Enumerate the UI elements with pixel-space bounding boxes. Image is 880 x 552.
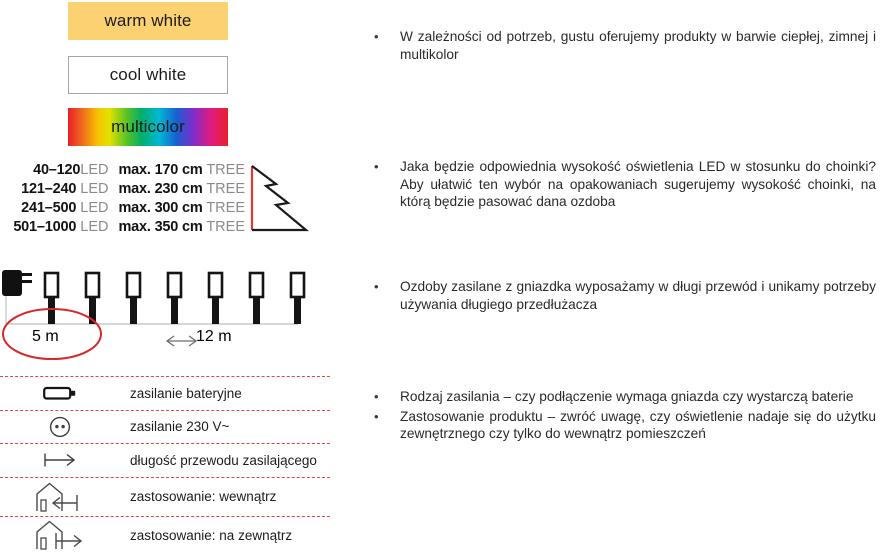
table-row: 501–1000 LED max. 350 cm TREE xyxy=(0,217,245,236)
tree-height-unit: TREE xyxy=(206,162,245,178)
led-bulb xyxy=(291,273,304,324)
led-count-cell: 40–120LED xyxy=(0,160,108,179)
symbol-legend: zasilanie bateryjne zasilanie 230 V~ xyxy=(0,376,330,552)
led-count-value: 241–500 xyxy=(21,200,76,216)
battery-icon xyxy=(0,384,120,402)
tree-height-unit: TREE xyxy=(206,219,245,235)
power-socket-icon xyxy=(0,414,120,440)
bullet-text: Jaka będzie odpowiednia wysokość oświetl… xyxy=(400,158,876,211)
multicolor-label: multicolor xyxy=(111,117,185,137)
list-item: • Ozdoby zasilane z gniazdka wyposażamy … xyxy=(368,278,876,313)
led-count-unit: LED xyxy=(80,200,108,216)
light-string-diagram xyxy=(0,262,320,367)
bullet-marker: • xyxy=(368,158,400,211)
multicolor-swatch: multicolor xyxy=(68,108,228,146)
power-plug-icon xyxy=(2,270,32,296)
lead-length-label: 5 m xyxy=(32,328,59,346)
bullet-block-colour: • W zależności od potrzeb, gustu oferuje… xyxy=(368,28,876,65)
bullet-marker: • xyxy=(368,408,400,443)
tree-height-unit: TREE xyxy=(206,181,245,197)
legend-label: długość przewodu zasilającego xyxy=(120,453,317,468)
led-count-value: 40–120 xyxy=(33,162,80,178)
tree-height-unit: TREE xyxy=(206,200,245,216)
table-row: 241–500 LED max. 300 cm TREE xyxy=(0,198,245,217)
led-height-table: 40–120LED max. 170 cm TREE 121–240 LED m… xyxy=(0,160,245,236)
legend-row-cable-length: długość przewodu zasilającego xyxy=(0,443,330,477)
cool-white-label: cool white xyxy=(110,65,187,85)
led-count-cell: 121–240 LED xyxy=(0,179,108,198)
bullet-text: Ozdoby zasilane z gniazdka wyposażamy w … xyxy=(400,278,876,313)
list-item: • W zależności od potrzeb, gustu oferuje… xyxy=(368,28,876,63)
legend-label: zasilanie 230 V~ xyxy=(120,419,229,434)
led-bulb xyxy=(209,273,222,324)
tree-height-value: max. 350 cm xyxy=(118,219,202,235)
bullet-block-height: • Jaka będzie odpowiednia wysokość oświe… xyxy=(368,158,876,213)
warm-white-swatch: warm white xyxy=(68,2,228,40)
led-count-unit: LED xyxy=(80,162,108,178)
legend-row-socket: zasilanie 230 V~ xyxy=(0,410,330,444)
led-bulb xyxy=(127,273,140,324)
tree-height-cell: max. 300 cm TREE xyxy=(108,198,245,217)
warm-white-label: warm white xyxy=(105,11,192,31)
legend-label: zastosowanie: wewnątrz xyxy=(120,489,276,504)
tree-height-cell: max. 170 cm TREE xyxy=(108,160,245,179)
led-count-cell: 501–1000 LED xyxy=(0,217,108,236)
led-count-value: 121–240 xyxy=(21,181,76,197)
led-bulb xyxy=(45,273,58,324)
led-count-cell: 241–500 LED xyxy=(0,198,108,217)
legend-label: zastosowanie: na zewnątrz xyxy=(120,528,292,543)
bullet-text: W zależności od potrzeb, gustu oferujemy… xyxy=(400,28,876,63)
bullet-marker: • xyxy=(368,388,400,406)
infographic-page: warm white cool white multicolor 40–120L… xyxy=(0,0,880,552)
legend-row-outdoor: zastosowanie: na zewnątrz xyxy=(0,516,330,552)
led-bulb xyxy=(250,273,263,324)
house-indoor-icon xyxy=(0,480,120,514)
tree-height-value: max. 230 cm xyxy=(118,181,202,197)
list-item: • Rodzaj zasilania – czy podłączenie wym… xyxy=(368,388,876,406)
led-bulb xyxy=(168,273,181,324)
bullet-block-power-usage: • Rodzaj zasilania – czy podłączenie wym… xyxy=(368,388,876,445)
bullet-marker: • xyxy=(368,278,400,313)
bullet-block-cable: • Ozdoby zasilane z gniazdka wyposażamy … xyxy=(368,278,876,315)
bullet-text: Zastosowanie produktu – zwróć uwagę, czy… xyxy=(400,408,876,443)
double-arrow-icon xyxy=(167,336,196,346)
led-count-value: 501–1000 xyxy=(13,219,76,235)
legend-row-indoor: zastosowanie: wewnątrz xyxy=(0,477,330,516)
list-item: • Jaka będzie odpowiednia wysokość oświe… xyxy=(368,158,876,211)
house-outdoor-icon xyxy=(0,518,120,552)
led-count-unit: LED xyxy=(80,181,108,197)
led-count-unit: LED xyxy=(80,219,108,235)
cable-length-icon xyxy=(0,450,120,470)
tree-height-value: max. 170 cm xyxy=(118,162,202,178)
bullet-marker: • xyxy=(368,28,400,63)
list-item: • Zastosowanie produktu – zwróć uwagę, c… xyxy=(368,408,876,443)
christmas-tree-icon xyxy=(248,162,312,241)
tree-height-cell: max. 350 cm TREE xyxy=(108,217,245,236)
table-row: 121–240 LED max. 230 cm TREE xyxy=(0,179,245,198)
bullet-text: Rodzaj zasilania – czy podłączenie wymag… xyxy=(400,388,876,406)
table-row: 40–120LED max. 170 cm TREE xyxy=(0,160,245,179)
legend-label: zasilanie bateryjne xyxy=(120,386,242,401)
cool-white-swatch: cool white xyxy=(68,56,228,94)
tree-height-value: max. 300 cm xyxy=(118,200,202,216)
lit-length-label: 12 m xyxy=(196,328,232,346)
tree-height-cell: max. 230 cm TREE xyxy=(108,179,245,198)
legend-row-battery: zasilanie bateryjne xyxy=(0,376,330,410)
